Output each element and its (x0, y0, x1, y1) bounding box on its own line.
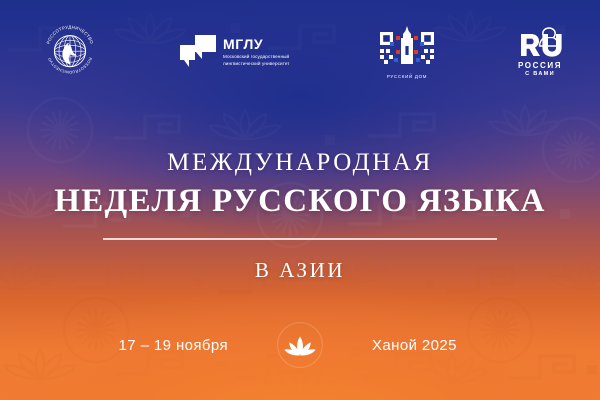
logo-mglu[interactable]: МГЛУ Московский государственный лингвист… (180, 0, 312, 104)
mglu-fullname-line2: лингвистический университет (223, 61, 290, 68)
title-line-1: МЕЖДУНАРОДНАЯ (0, 150, 600, 175)
event-poster: РОССОТРУДНИЧЕСТВО ROSSOTRUDNICHESTVO (0, 0, 600, 400)
title-divider (103, 238, 497, 240)
event-details-row: 17 – 19 ноября Ханой 2025 (0, 320, 600, 370)
title-line-2: НЕДЕЛЯ РУССКОГО ЯЗЫКА (0, 185, 600, 218)
ru-logo-line1: РОССИЯ (518, 61, 562, 71)
event-dates: 17 – 19 ноября (108, 337, 228, 354)
mglu-fullname-line1: Московский государственный (223, 54, 290, 61)
event-location: Ханой 2025 (372, 337, 492, 354)
logo-russian-house[interactable]: РУССКИЙ ДОМ (374, 0, 440, 104)
logo-rossotrudnichestvo[interactable]: РОССОТРУДНИЧЕСТВО ROSSOTRUDNICHESTVO (28, 0, 112, 104)
logo-ru-russia-with-you[interactable]: РОССИЯ С ВАМИ (500, 0, 580, 104)
speech-bubbles-icon (180, 35, 216, 69)
matryoshka-icon (511, 26, 569, 60)
ru-logo-line2: С ВАМИ (525, 71, 555, 78)
lotus-icon (276, 321, 324, 369)
mglu-abbreviation: МГЛУ (223, 37, 290, 51)
pixel-kremlin-icon (380, 26, 434, 71)
subtitle: В АЗИИ (0, 258, 600, 283)
partner-logo-bar: РОССОТРУДНИЧЕСТВО ROSSOTRUDNICHESTVO (0, 0, 600, 104)
russian-house-caption: РУССКИЙ ДОМ (387, 74, 427, 79)
globe-dove-icon: РОССОТРУДНИЧЕСТВО ROSSOTRUDNICHESTVO (41, 21, 99, 84)
page-title: МЕЖДУНАРОДНАЯ НЕДЕЛЯ РУССКОГО ЯЗЫКА (0, 150, 600, 218)
